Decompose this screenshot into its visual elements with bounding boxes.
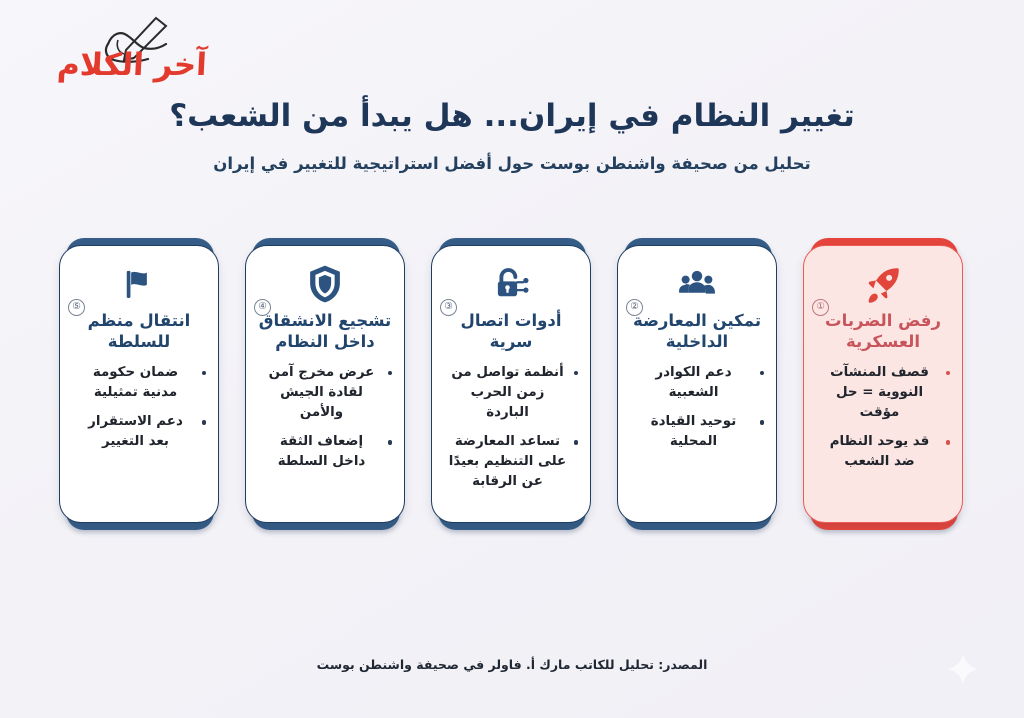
card-5[interactable]: ⑤ انتقال منظم للسلطة ضمان حكومة مدنية تم… <box>59 236 221 536</box>
list-item: تساعد المعارضة على التنظيم بعيدًا عن الر… <box>442 432 580 492</box>
card-body[interactable]: ⑤ انتقال منظم للسلطة ضمان حكومة مدنية تم… <box>59 245 219 523</box>
card-title-text: رفض الضربات العسكرية <box>825 311 941 351</box>
shield-icon <box>305 262 345 306</box>
brand-name: آخر الكلام <box>41 50 223 81</box>
card-title: ④ تشجيع الانشقاق داخل النظام <box>256 310 394 353</box>
card-4[interactable]: ④ تشجيع الانشقاق داخل النظام عرض مخرج آم… <box>245 236 407 536</box>
card-title: ① رفض الضربات العسكرية <box>814 310 952 353</box>
card-title: ⑤ انتقال منظم للسلطة <box>70 310 208 353</box>
card-bullets: أنظمة تواصل من زمن الحرب الباردة تساعد ا… <box>442 363 580 502</box>
card-bullets: عرض مخرج آمن لقادة الجيش والأمن إضعاف ال… <box>256 363 394 482</box>
card-body[interactable]: ② تمكين المعارضة الداخلية دعم الكوادر ال… <box>617 245 777 523</box>
list-item: قد يوحد النظام ضد الشعب <box>814 432 952 472</box>
list-item: عرض مخرج آمن لقادة الجيش والأمن <box>256 363 394 423</box>
page-subtitle: تحليل من صحيفة واشنطن بوست حول أفضل استر… <box>0 152 1024 177</box>
card-1[interactable]: ① رفض الضربات العسكرية قصف المنشآت النوو… <box>803 236 965 536</box>
card-2[interactable]: ② تمكين المعارضة الداخلية دعم الكوادر ال… <box>617 236 779 536</box>
list-item: أنظمة تواصل من زمن الحرب الباردة <box>442 363 580 423</box>
list-item: قصف المنشآت النووية = حل مؤقت <box>814 363 952 423</box>
brand-logo: آخر الكلام <box>42 14 222 92</box>
rocket-icon <box>862 262 904 306</box>
card-number-badge: ⑤ <box>68 299 85 316</box>
card-number-badge: ④ <box>254 299 271 316</box>
people-group-icon <box>676 262 718 306</box>
card-title-text: تمكين المعارضة الداخلية <box>633 311 761 351</box>
flag-icon <box>118 262 160 306</box>
card-body[interactable]: ③ أدوات اتصال سرية أنظمة تواصل من زمن ال… <box>431 245 591 523</box>
card-body[interactable]: ④ تشجيع الانشقاق داخل النظام عرض مخرج آم… <box>245 245 405 523</box>
list-item: توحيد القيادة المحلية <box>628 412 766 452</box>
card-title-text: أدوات اتصال سرية <box>461 311 562 351</box>
card-bullets: دعم الكوادر الشعبية توحيد القيادة المحلي… <box>628 363 766 461</box>
header: تغيير النظام في إيران... هل يبدأ من الشع… <box>0 96 1024 177</box>
card-title-text: انتقال منظم للسلطة <box>88 311 191 351</box>
strategy-cards: ① رفض الضربات العسكرية قصف المنشآت النوو… <box>0 236 1024 536</box>
sparkle-diamond-icon <box>946 652 980 686</box>
card-bullets: قصف المنشآت النووية = حل مؤقت قد يوحد ال… <box>814 363 952 482</box>
padlock-network-icon <box>490 262 532 306</box>
card-body[interactable]: ① رفض الضربات العسكرية قصف المنشآت النوو… <box>803 245 963 523</box>
card-title: ③ أدوات اتصال سرية <box>442 310 580 353</box>
card-3[interactable]: ③ أدوات اتصال سرية أنظمة تواصل من زمن ال… <box>431 236 593 536</box>
card-title: ② تمكين المعارضة الداخلية <box>628 310 766 353</box>
card-number-badge: ① <box>812 299 829 316</box>
infographic-canvas: آخر الكلام تغيير النظام في إيران... هل ي… <box>0 0 1024 718</box>
card-number-badge: ③ <box>440 299 457 316</box>
card-bullets: ضمان حكومة مدنية تمثيلية دعم الاستقرار ب… <box>70 363 208 461</box>
card-number-badge: ② <box>626 299 643 316</box>
card-title-text: تشجيع الانشقاق داخل النظام <box>259 311 391 351</box>
list-item: ضمان حكومة مدنية تمثيلية <box>70 363 208 403</box>
list-item: دعم الكوادر الشعبية <box>628 363 766 403</box>
page-title: تغيير النظام في إيران... هل يبدأ من الشع… <box>0 96 1024 138</box>
list-item: دعم الاستقرار بعد التغيير <box>70 412 208 452</box>
source-note: المصدر: تحليل للكاتب مارك أ. فاولر في صح… <box>0 657 1024 672</box>
list-item: إضعاف الثقة داخل السلطة <box>256 432 394 472</box>
